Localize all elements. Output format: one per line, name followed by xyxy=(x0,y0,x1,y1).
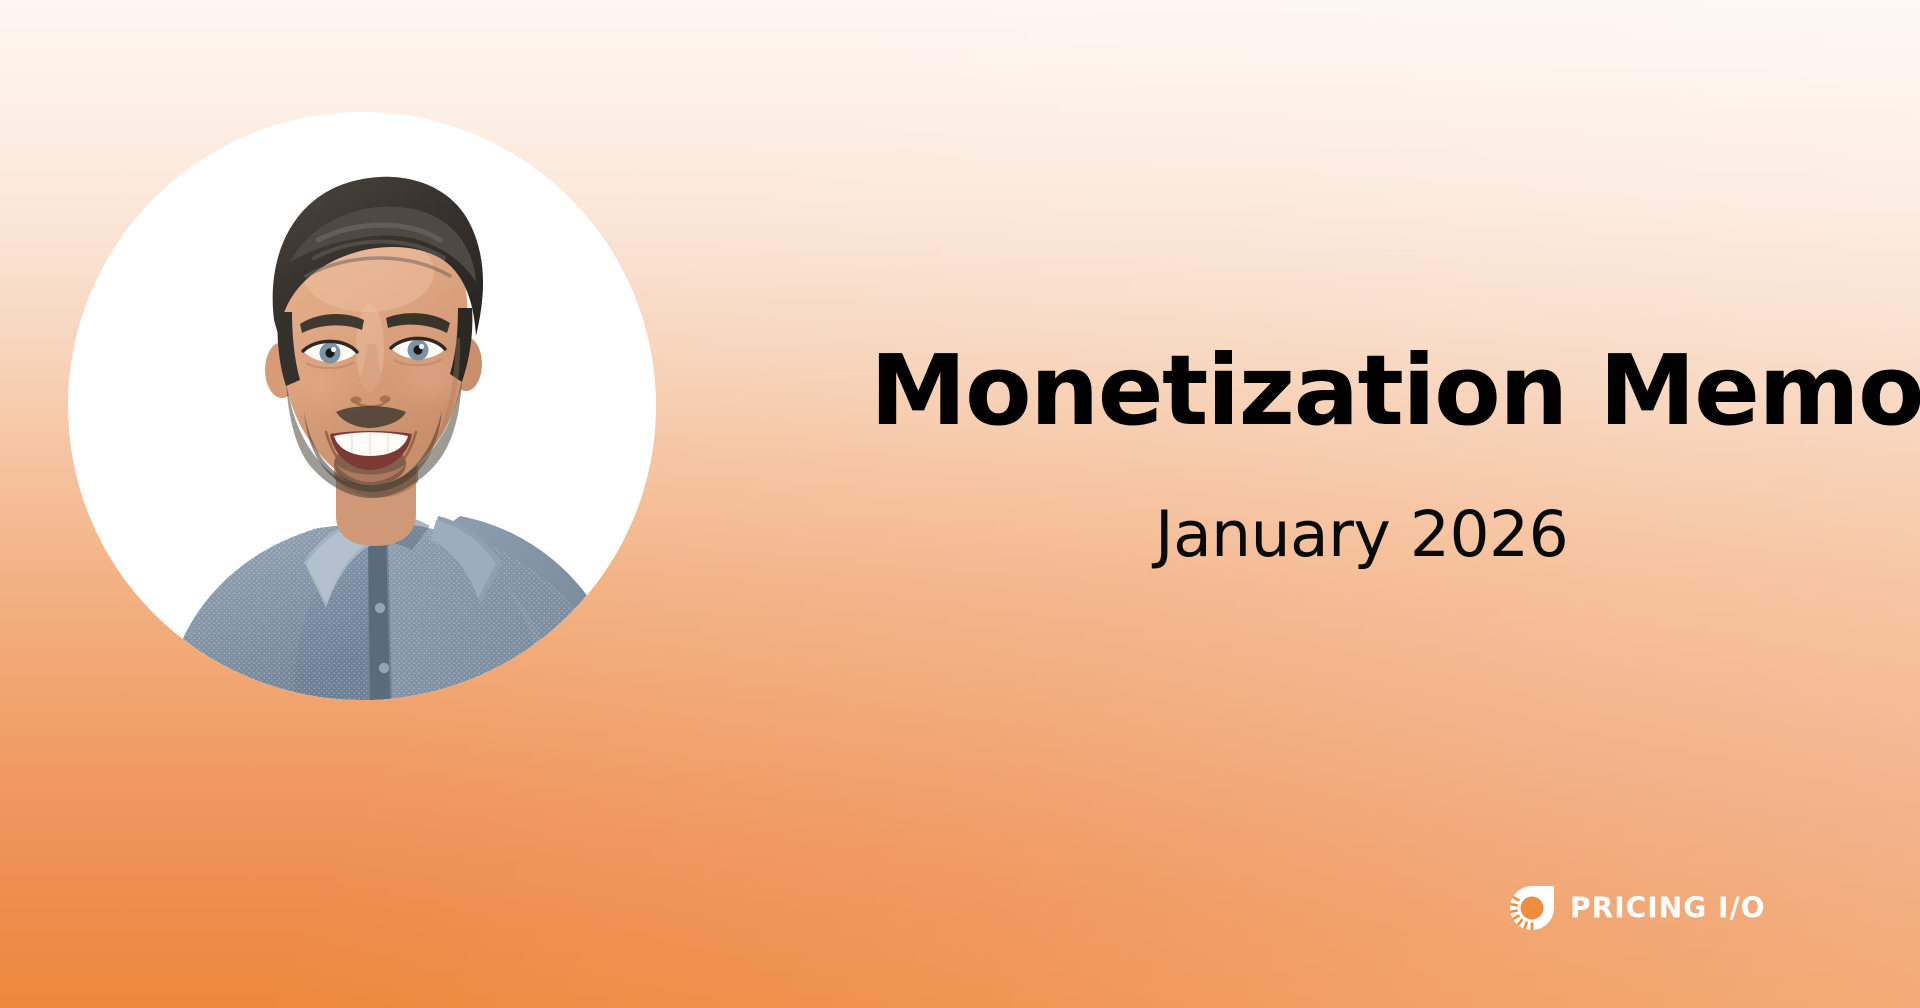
segmented-ring-icon xyxy=(1508,884,1556,932)
page-title: Monetization Memo xyxy=(870,342,1920,439)
brand-wordmark-text: PRICING I/O xyxy=(1570,891,1766,924)
brand-wordmark: PRICING I/O xyxy=(1570,891,1825,925)
brand-logo[interactable]: PRICING I/O xyxy=(1508,880,1825,936)
memo-cover-slide: Monetization Memo January 2026 PRICING I… xyxy=(0,0,1920,1008)
portrait-photo xyxy=(68,112,656,700)
avatar xyxy=(68,112,656,700)
page-subtitle-date: January 2026 xyxy=(1155,503,1568,566)
